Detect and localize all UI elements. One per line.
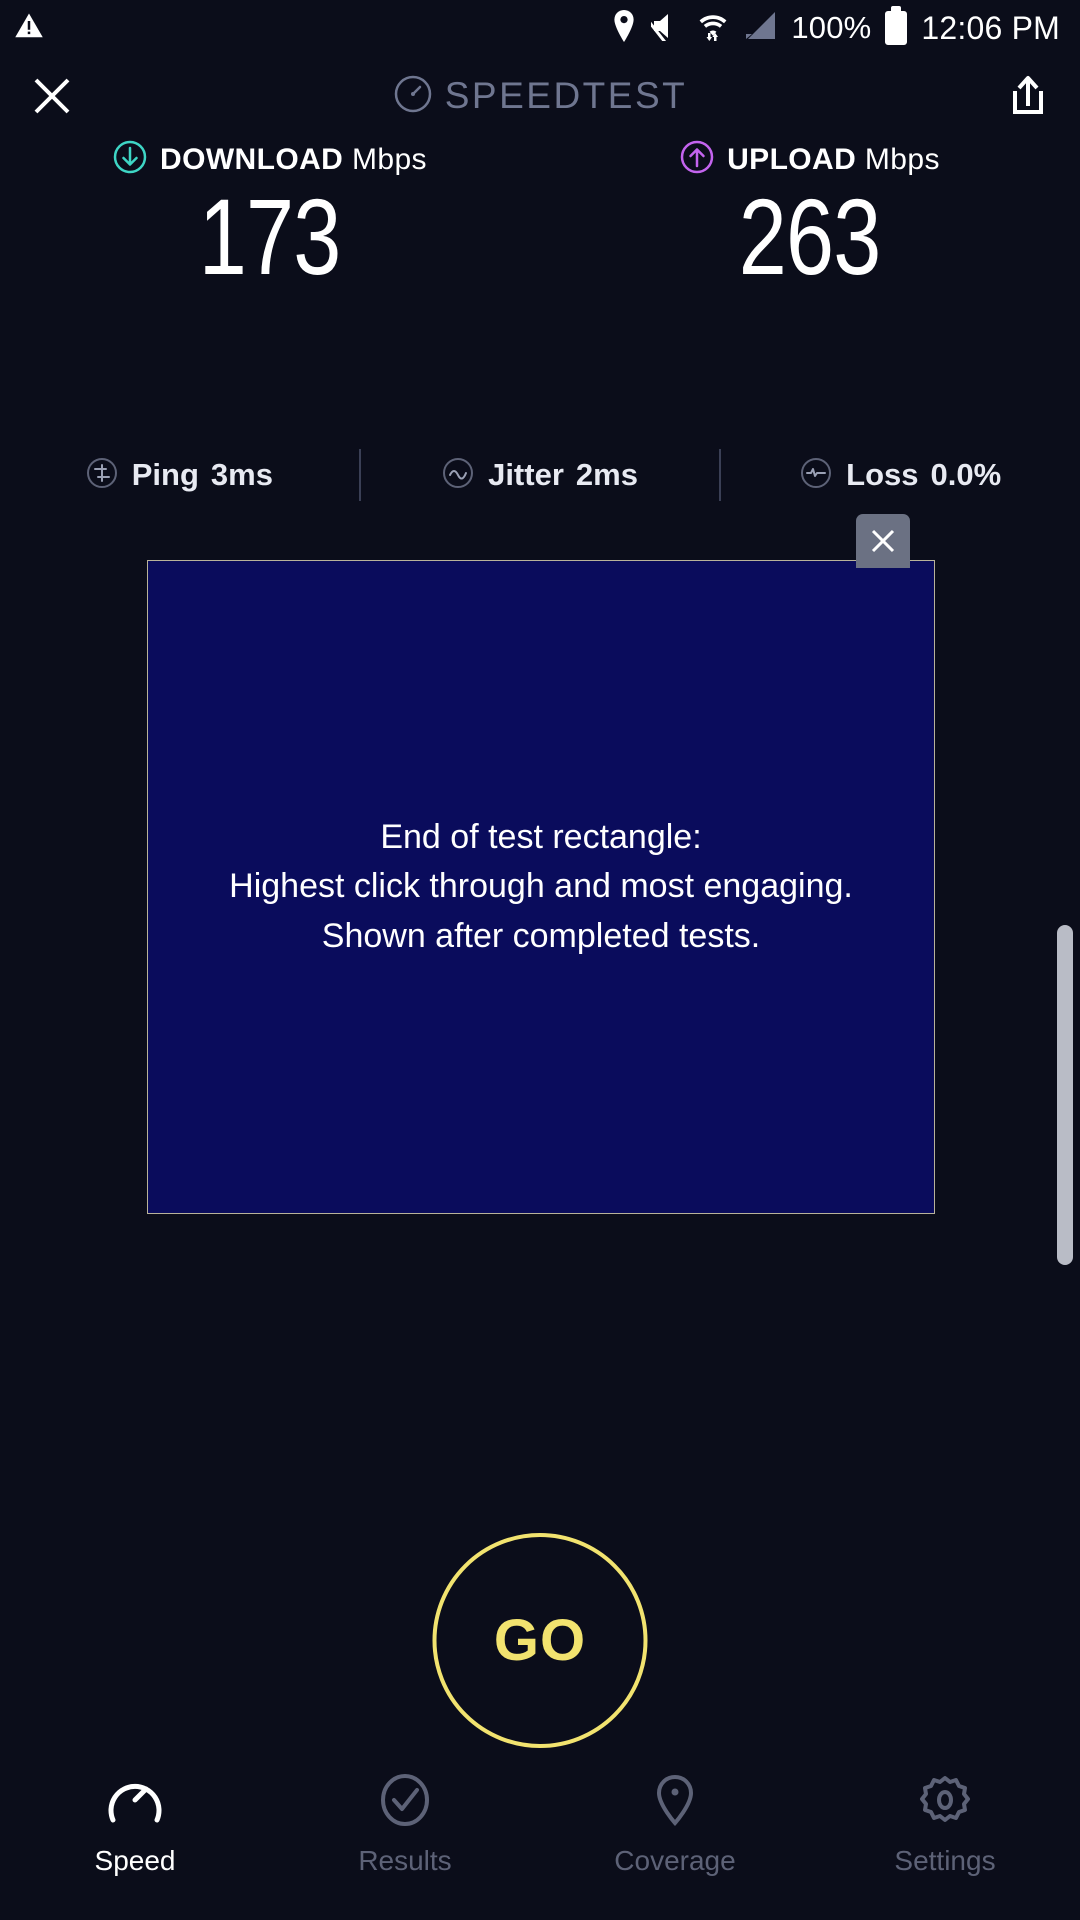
scrollbar-thumb[interactable] bbox=[1057, 925, 1073, 1265]
status-bar-right: 100% 12:06 PM bbox=[611, 10, 1060, 47]
ad-line-2: Highest click through and most engaging. bbox=[229, 862, 853, 912]
gear-icon bbox=[917, 1774, 973, 1831]
upload-value: 263 bbox=[739, 183, 881, 291]
loss-icon bbox=[800, 457, 832, 494]
ad-text: End of test rectangle: Highest click thr… bbox=[229, 813, 853, 962]
speedtest-app-screen: 100% 12:06 PM SPEEDTEST bbox=[0, 0, 1080, 1920]
status-bar-left bbox=[14, 11, 44, 46]
upload-metric: UPLOAD Mbps 263 bbox=[540, 140, 1080, 291]
download-upload-row: DOWNLOAD Mbps 173 UPLOAD Mbps 263 bbox=[0, 140, 1080, 291]
nav-label-results: Results bbox=[358, 1845, 451, 1877]
battery-full-icon bbox=[885, 11, 907, 45]
nav-label-speed: Speed bbox=[95, 1845, 176, 1877]
download-header: DOWNLOAD Mbps bbox=[113, 140, 427, 179]
brand-title-group: SPEEDTEST bbox=[0, 56, 1080, 136]
loss-text: Loss0.0% bbox=[846, 457, 1001, 493]
warning-triangle-icon bbox=[14, 11, 44, 46]
cellular-signal-icon bbox=[743, 10, 777, 47]
ping-metric: Ping3ms bbox=[0, 457, 359, 494]
ping-icon bbox=[86, 457, 118, 494]
nav-item-speed[interactable]: Speed bbox=[0, 1774, 270, 1877]
wifi-icon bbox=[697, 10, 729, 47]
nav-item-settings[interactable]: Settings bbox=[810, 1774, 1080, 1877]
ping-text: Ping3ms bbox=[132, 457, 273, 493]
jitter-metric: Jitter2ms bbox=[361, 457, 720, 494]
check-circle-icon bbox=[377, 1774, 433, 1831]
upload-label: UPLOAD Mbps bbox=[727, 143, 940, 177]
ad-close-button[interactable] bbox=[856, 514, 910, 568]
speed-results-panel: DOWNLOAD Mbps 173 UPLOAD Mbps 263 bbox=[0, 140, 1080, 291]
speedometer-icon bbox=[393, 74, 433, 119]
close-button[interactable] bbox=[24, 68, 80, 124]
upload-arrow-icon bbox=[680, 140, 714, 179]
location-pin-icon bbox=[611, 10, 637, 47]
battery-percent-label: 100% bbox=[791, 10, 871, 46]
advertisement-container: End of test rectangle: Highest click thr… bbox=[147, 560, 935, 1214]
ad-line-3: Shown after completed tests. bbox=[229, 912, 853, 962]
share-button[interactable] bbox=[1000, 68, 1056, 124]
download-value: 173 bbox=[199, 183, 341, 291]
download-label: DOWNLOAD Mbps bbox=[160, 143, 427, 177]
loss-metric: Loss0.0% bbox=[721, 457, 1080, 494]
nav-label-coverage: Coverage bbox=[614, 1845, 735, 1877]
status-bar: 100% 12:06 PM bbox=[0, 0, 1080, 56]
jitter-icon bbox=[442, 457, 474, 494]
nav-item-coverage[interactable]: Coverage bbox=[540, 1774, 810, 1877]
download-arrow-icon bbox=[113, 140, 147, 179]
go-button[interactable]: GO bbox=[433, 1533, 648, 1748]
download-metric: DOWNLOAD Mbps 173 bbox=[0, 140, 540, 291]
ad-banner[interactable]: End of test rectangle: Highest click thr… bbox=[147, 560, 935, 1214]
upload-header: UPLOAD Mbps bbox=[680, 140, 940, 179]
page-title: SPEEDTEST bbox=[445, 75, 688, 117]
nav-label-settings: Settings bbox=[894, 1845, 995, 1877]
app-header: SPEEDTEST bbox=[0, 56, 1080, 136]
nav-item-results[interactable]: Results bbox=[270, 1774, 540, 1877]
jitter-text: Jitter2ms bbox=[488, 457, 638, 493]
volume-mute-icon bbox=[651, 11, 683, 46]
ad-line-1: End of test rectangle: bbox=[229, 813, 853, 863]
speedometer-icon bbox=[107, 1774, 163, 1831]
bottom-navigation-bar: Speed Results Coverage Settings bbox=[0, 1760, 1080, 1920]
ping-jitter-loss-row: Ping3ms Jitter2ms Loss0.0% bbox=[0, 445, 1080, 505]
go-button-label: GO bbox=[494, 1607, 586, 1674]
clock-label: 12:06 PM bbox=[921, 10, 1060, 47]
location-pin-icon bbox=[647, 1774, 703, 1831]
